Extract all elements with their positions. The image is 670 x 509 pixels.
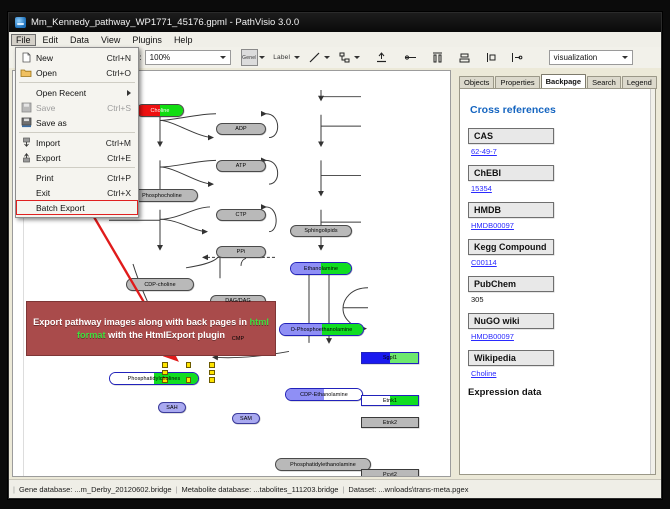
align-middle-tool-button[interactable] [402, 49, 419, 66]
file-menu-item-accelerator: Ctrl+O [106, 68, 138, 78]
xref-value-pubchem: 305 [471, 295, 647, 304]
screen-background: Mm_Kennedy_pathway_WP1771_45176.gpml - P… [0, 0, 670, 509]
metabolite-label: CDP-Ethanolamine [300, 392, 348, 398]
file-menu-item-label: Print [36, 173, 107, 183]
menu-data[interactable]: Data [65, 34, 94, 46]
selection-handle[interactable] [209, 377, 215, 383]
menu-item-icon-none [16, 185, 36, 200]
selection-handle[interactable] [186, 377, 192, 383]
file-menu-item-label: Save [36, 103, 107, 113]
align-left-tool-button[interactable] [508, 49, 525, 66]
xref-db-label-pubchem: PubChem [468, 276, 554, 292]
metabolite-node-ctp[interactable]: CTP [216, 209, 266, 221]
metabolite-label: CDP-choline [144, 282, 175, 288]
metabolite-node-phosphatidylethanolamine[interactable]: Phosphatidylethanolamine [275, 458, 371, 471]
metabolite-label: Sphingolipids [304, 228, 337, 234]
pathvisio-icon [15, 17, 26, 28]
xref-value-kegg-compound[interactable]: C00114 [471, 258, 647, 267]
selection-handle[interactable] [162, 362, 168, 368]
file-menu-item-accelerator: Ctrl+M [106, 138, 138, 148]
metabolite-node-o-phosphoethanolamine[interactable]: O-Phosphoethanolamine [279, 323, 364, 336]
save-as-icon [16, 115, 36, 130]
metabolite-node-choline[interactable]: Choline [136, 104, 184, 117]
metabolite-label: SAM [240, 416, 252, 422]
file-menu-item-accelerator: Ctrl+E [107, 153, 138, 163]
file-menu-item-label: Batch Export [36, 203, 131, 213]
status-metabolite-database: Metabolite database: ...tabolites_111203… [182, 485, 339, 494]
datanode-tool-label: GeneProduct [242, 55, 256, 61]
gene-label: Sgpl1 [383, 355, 397, 361]
menu-edit[interactable]: Edit [38, 34, 64, 46]
xref-link[interactable]: HMDB00097 [471, 221, 514, 230]
cross-references-title: Cross references [470, 104, 647, 116]
metabolite-label: ADP [235, 126, 246, 132]
metabolite-label: Phosphatidylcholines [128, 376, 181, 382]
menu-help[interactable]: Help [169, 34, 198, 46]
metabolite-label: Phosphocholine [142, 193, 182, 199]
datanode-tool-button[interactable]: GeneProduct [241, 49, 258, 66]
file-menu-item-export[interactable]: ExportCtrl+E [16, 150, 138, 165]
tab-backpage[interactable]: Backpage [541, 74, 586, 89]
menu-separator [19, 167, 135, 168]
import-icon [16, 135, 36, 150]
metabolite-node-sphingolipids[interactable]: Sphingolipids [290, 225, 352, 237]
align-top-tool-button[interactable] [373, 49, 390, 66]
chevron-right-icon [127, 90, 131, 96]
gene-label: Pcyt2 [383, 472, 397, 477]
file-menu-item-open[interactable]: OpenCtrl+O [16, 65, 138, 80]
file-menu-item-new[interactable]: NewCtrl+N [16, 50, 138, 65]
status-gene-database: Gene database: ...m_Derby_20120602.bridg… [19, 485, 172, 494]
selection-handle[interactable] [162, 370, 168, 376]
metabolite-node-ppi[interactable]: PPi [216, 246, 266, 258]
metabolite-node-adp[interactable]: ADP [216, 123, 266, 135]
metabolite-label: ATP [236, 163, 246, 169]
selection-handle[interactable] [186, 362, 192, 368]
metabolite-label: Phosphatidylethanolamine [290, 462, 356, 468]
file-menu-item-accelerator: Ctrl+S [107, 103, 138, 113]
xref-value-chebi[interactable]: 15354 [471, 184, 647, 193]
xref-db-label-kegg-compound: Kegg Compound [468, 239, 554, 255]
side-panel-tabs: Objects Properties Backpage Search Legen… [459, 74, 656, 89]
status-dataset: Dataset: ...wnloads\trans-meta.pgex [348, 485, 468, 494]
file-menu-item-label: Exit [36, 188, 107, 198]
file-menu-item-accelerator: Ctrl+N [107, 53, 138, 63]
file-menu-item-save-as[interactable]: Save as [16, 115, 138, 130]
metabolite-node-ethanolamine[interactable]: Ethanolamine [290, 262, 352, 275]
metabolite-label: DAG/DAG [225, 298, 251, 304]
file-menu-item-label: Export [36, 153, 107, 163]
gene-node-pcyt2[interactable]: Pcyt2 [361, 469, 419, 477]
status-divider: | [176, 485, 178, 494]
status-divider: | [13, 485, 15, 494]
side-panel: Objects Properties Backpage Search Legen… [453, 70, 658, 477]
menu-item-icon-none [16, 200, 36, 215]
xref-link[interactable]: 15354 [471, 184, 492, 193]
status-divider: | [342, 485, 344, 494]
menu-separator [19, 82, 135, 83]
file-menu-item-label: New [36, 53, 107, 63]
menu-item-icon-none [16, 170, 36, 185]
file-menu-item-label: Save as [36, 118, 131, 128]
metabolite-node-atp[interactable]: ATP [216, 160, 266, 172]
xref-db-label-chebi: ChEBI [468, 165, 554, 181]
title-bar: Mm_Kennedy_pathway_WP1771_45176.gpml - P… [9, 13, 661, 32]
selection-handle[interactable] [209, 370, 215, 376]
annotation-callout: Export pathway images along with back pa… [26, 301, 276, 356]
gene-label: Etnk1 [383, 398, 397, 404]
xref-value-nugo-wiki[interactable]: HMDB00097 [471, 332, 647, 341]
xref-link[interactable]: 62-49-7 [471, 147, 497, 156]
gene-node-etnk2[interactable]: Etnk2 [361, 417, 419, 428]
metabolite-node-cdp-ethanolamine[interactable]: CDP-Ethanolamine [285, 388, 363, 401]
menu-item-icon-none [16, 85, 36, 100]
gene-node-etnk1[interactable]: Etnk1 [361, 395, 419, 406]
menu-bar: File Edit Data View Plugins Help [9, 32, 661, 48]
gene-label: Etnk2 [383, 420, 397, 426]
label-tool-button[interactable]: Label [271, 49, 293, 66]
metabolite-node-sam[interactable]: SAM [232, 413, 260, 424]
xref-db-label-cas: CAS [468, 128, 554, 144]
line-dropdown-icon[interactable] [323, 50, 331, 65]
file-menu-item-accelerator: Ctrl+P [107, 173, 138, 183]
menu-separator [19, 132, 135, 133]
file-menu-item-exit[interactable]: ExitCtrl+X [16, 185, 138, 200]
menu-view[interactable]: View [96, 34, 125, 46]
xref-db-label-hmdb: HMDB [468, 202, 554, 218]
file-menu-dropdown[interactable]: NewCtrl+NOpenCtrl+OOpen RecentSaveCtrl+S… [15, 47, 139, 218]
backpage-content: Cross references CAS62-49-7ChEBI15354HMD… [460, 89, 655, 474]
xref-db-label-nugo-wiki: NuGO wiki [468, 313, 554, 329]
gene-node-sgpl1[interactable]: Sgpl1 [361, 352, 419, 364]
metabolite-label: Ethanolamine [304, 266, 338, 272]
xref-db-label-wikipedia: Wikipedia [468, 350, 554, 366]
chevron-down-icon [621, 51, 630, 64]
status-bar: | Gene database: ...m_Derby_20120602.bri… [9, 479, 661, 498]
label-dropdown-icon[interactable] [293, 50, 301, 65]
new-file-icon [16, 50, 36, 65]
export-icon [16, 150, 36, 165]
interaction-dropdown-icon[interactable] [353, 50, 361, 65]
window-title: Mm_Kennedy_pathway_WP1771_45176.gpml - P… [31, 13, 299, 32]
metabolite-label: CMP [232, 336, 244, 342]
zoom-combo[interactable]: 100% [145, 50, 231, 65]
xref-value-wikipedia[interactable]: Choline [471, 369, 647, 378]
xref-link[interactable]: C00114 [471, 258, 497, 267]
metabolite-node-sah[interactable]: SAH [158, 402, 186, 413]
menu-file[interactable]: File [11, 34, 36, 46]
backpage-scrollbar[interactable] [650, 89, 655, 474]
metabolite-label: CTP [235, 212, 246, 218]
expression-data-title: Expression data [468, 387, 647, 398]
open-folder-icon [16, 65, 36, 80]
menu-plugins[interactable]: Plugins [127, 34, 167, 46]
xref-value-hmdb[interactable]: HMDB00097 [471, 221, 647, 230]
align-stack-tool-button[interactable] [456, 49, 473, 66]
chevron-down-icon [219, 51, 228, 64]
file-menu-item-print[interactable]: PrintCtrl+P [16, 170, 138, 185]
callout-text-after: with the HtmlExport plugin [106, 330, 225, 340]
file-menu-item-open-recent[interactable]: Open Recent [16, 85, 138, 100]
file-menu-item-label: Open Recent [36, 88, 127, 98]
label-tool-label: Label [273, 54, 290, 61]
metabolite-label: PPi [237, 249, 246, 255]
metabolite-label: Choline [151, 108, 170, 114]
pathvisio-window: Mm_Kennedy_pathway_WP1771_45176.gpml - P… [8, 12, 662, 499]
metabolite-label: O-Phosphoethanolamine [291, 327, 353, 333]
file-menu-item-import[interactable]: ImportCtrl+M [16, 135, 138, 150]
align-columns-tool-button[interactable] [429, 49, 446, 66]
line-tool-button[interactable] [306, 49, 323, 66]
file-menu-item-batch-export[interactable]: Batch Export [16, 200, 138, 215]
file-menu-item-accelerator: Ctrl+X [107, 188, 138, 198]
align-bottom-tool-button[interactable] [483, 49, 500, 66]
visualization-combo[interactable]: visualization [549, 50, 633, 65]
datanode-dropdown-icon[interactable] [258, 50, 266, 65]
xref-link[interactable]: Choline [471, 369, 496, 378]
interaction-tool-button[interactable] [336, 49, 353, 66]
xref-link[interactable]: HMDB00097 [471, 332, 514, 341]
visualization-value: visualization [552, 53, 598, 62]
metabolite-node-cdp-choline[interactable]: CDP-choline [126, 278, 194, 291]
callout-text-before: Export pathway images along with back pa… [33, 317, 249, 327]
xref-value-cas[interactable]: 62-49-7 [471, 147, 647, 156]
file-menu-item-label: Import [36, 138, 106, 148]
file-menu-item-label: Open [36, 68, 106, 78]
selection-handle[interactable] [209, 362, 215, 368]
zoom-value: 100% [148, 53, 170, 62]
metabolite-label: SAH [166, 405, 177, 411]
file-menu-item-save: SaveCtrl+S [16, 100, 138, 115]
save-disk-icon [16, 100, 36, 115]
backpage-panel: Cross references CAS62-49-7ChEBI15354HMD… [459, 88, 656, 475]
cross-reference-list: CAS62-49-7ChEBI15354HMDBHMDB00097Kegg Co… [468, 128, 647, 378]
